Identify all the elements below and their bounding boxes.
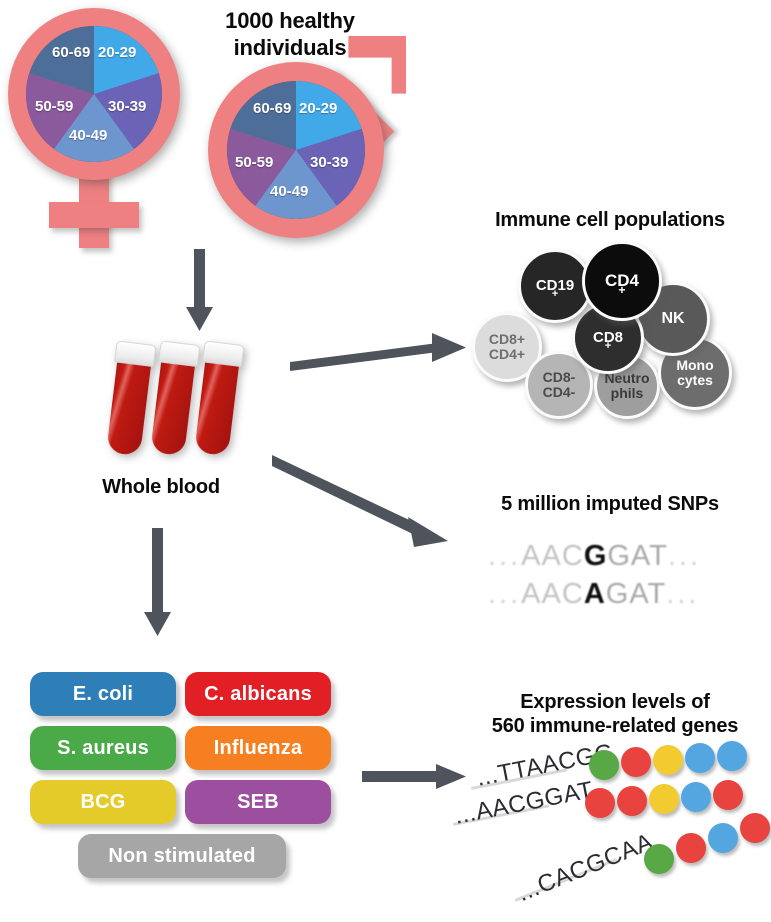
expression-bead	[685, 743, 715, 773]
expression-title: Expression levels of 560 immune-related …	[460, 690, 770, 739]
blood-tubes	[98, 336, 278, 466]
male-symbol: 20-29 30-39 40-49 50-59 60-69	[208, 38, 428, 248]
blood-tube	[194, 341, 241, 456]
expression-strand: ...CACGCAA	[493, 827, 771, 912]
expression-bead	[676, 833, 706, 863]
male-pie-label-50-59: 50-59	[235, 154, 273, 171]
snp-before: AAC	[521, 578, 584, 610]
tube-cap	[114, 340, 156, 367]
female-pie-label-40-49: 40-49	[69, 127, 107, 144]
immune-cell-cd4p: CD4+	[582, 241, 662, 321]
expression-bead	[589, 750, 619, 780]
stimulus-s-aureus[interactable]: S. aureus	[30, 726, 176, 770]
stimulus-label: Non stimulated	[108, 845, 255, 868]
arrow-blood-to-immune	[290, 330, 470, 380]
male-pie-label-30-39: 30-39	[310, 154, 348, 171]
stimulus-label: Influenza	[214, 737, 302, 760]
snp-before: AAC	[521, 540, 584, 572]
stimulus-influenza[interactable]: Influenza	[185, 726, 331, 770]
snp-variant-allele: A	[584, 578, 606, 610]
tube-cap	[202, 340, 244, 367]
stimulus-label: SEB	[237, 791, 279, 814]
arrow-blood-to-snps	[272, 455, 462, 560]
expression-strands: ...TTAACGG ...AACGGAT ...CACGCAA	[455, 745, 771, 920]
expression-bead	[621, 747, 651, 777]
male-pie-label-20-29: 20-29	[299, 100, 337, 117]
blood-tube	[150, 341, 197, 456]
stimulus-label: S. aureus	[57, 737, 149, 760]
immune-cell-label: Neutro phils	[604, 371, 649, 400]
expression-bead	[713, 780, 743, 810]
snp-prefix-dots: ...	[488, 540, 521, 572]
female-pie-label-20-29: 20-29	[98, 44, 136, 61]
expression-bead	[617, 786, 647, 816]
figure-canvas: 1000 healthy individuals 20-29 30-39 40-…	[0, 0, 771, 922]
immune-cell-label: CD8- CD4-	[543, 370, 576, 399]
tube-cap	[158, 340, 200, 367]
immune-cell-label: Mono cytes	[676, 358, 713, 387]
female-crossbar	[49, 202, 139, 228]
stimulus-e-coli[interactable]: E. coli	[30, 672, 176, 716]
tube-blood	[106, 357, 151, 456]
snp-variant-allele: G	[584, 540, 608, 572]
snp-after: GAT	[607, 540, 667, 572]
stimulus-label: C. albicans	[204, 683, 312, 706]
expression-bead	[585, 788, 615, 818]
female-pie-label-60-69: 60-69	[52, 44, 90, 61]
stimulus-bcg[interactable]: BCG	[30, 780, 176, 824]
immune-cell-label: CD8+	[593, 330, 623, 346]
female-pie-label-30-39: 30-39	[108, 98, 146, 115]
stimulus-c-albicans[interactable]: C. albicans	[185, 672, 331, 716]
male-pie-label-60-69: 60-69	[253, 100, 291, 117]
arrow-blood-to-stimuli	[140, 528, 176, 638]
expression-bead	[644, 844, 674, 874]
immune-title: Immune cell populations	[455, 208, 765, 232]
strand-sequence: ...CACGCAA	[514, 828, 658, 908]
stimulus-label: E. coli	[73, 683, 133, 706]
arrow-cohort-to-blood	[182, 249, 218, 333]
female-symbol: 20-29 30-39 40-49 50-59 60-69	[8, 8, 198, 248]
strand-sequence: ...AACGGAT	[452, 776, 595, 830]
expression-bead	[653, 745, 683, 775]
stimulus-non-stimulated[interactable]: Non stimulated	[78, 834, 286, 878]
immune-cell-label: NK	[661, 311, 684, 328]
stimulus-label: BCG	[80, 791, 125, 814]
snp-suffix-dots: ...	[668, 540, 701, 572]
snp-prefix-dots: ...	[488, 578, 521, 610]
expression-bead	[717, 741, 747, 771]
stimulus-seb[interactable]: SEB	[185, 780, 331, 824]
immune-cell-cd19p: CD19+	[518, 249, 592, 323]
blood-tube	[106, 341, 153, 456]
immune-cell-label: CD4+	[605, 272, 639, 290]
female-pie-label-50-59: 50-59	[35, 98, 73, 115]
male-pie-label-40-49: 40-49	[270, 183, 308, 200]
immune-cell-label: CD8+ CD4+	[489, 332, 525, 361]
expression-bead	[740, 813, 770, 843]
stimuli-panel: E. coli C. albicans S. aureus Influenza …	[30, 672, 340, 898]
expression-bead	[681, 782, 711, 812]
immune-cell-cluster: CD8+ CD4+ CD8- CD4- Neutro phils Mono cy…	[468, 240, 758, 420]
tube-blood	[194, 357, 239, 456]
snp-sequence-row: ...AACAGAT...	[488, 578, 699, 611]
whole-blood-label: Whole blood	[76, 475, 246, 499]
snp-after: GAT	[606, 578, 666, 610]
snp-suffix-dots: ...	[666, 578, 699, 610]
immune-cell-label: CD19+	[536, 278, 574, 294]
snps-title: 5 million imputed SNPs	[460, 492, 760, 516]
tube-blood	[150, 357, 195, 456]
expression-bead	[649, 784, 679, 814]
snp-sequence-row: ...AACGGAT...	[488, 540, 701, 573]
expression-bead	[708, 823, 738, 853]
